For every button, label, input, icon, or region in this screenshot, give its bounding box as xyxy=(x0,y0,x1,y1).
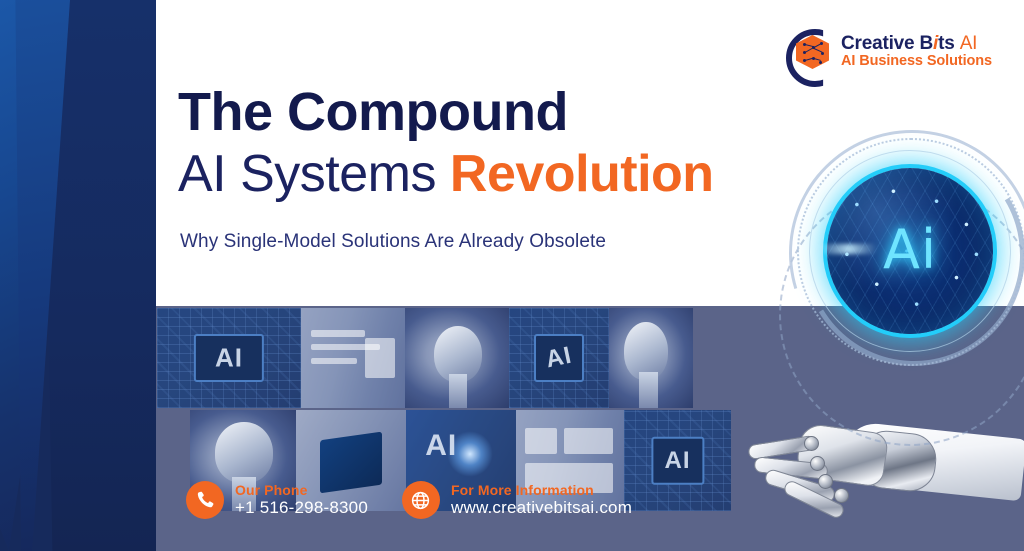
ui-bar xyxy=(311,358,357,364)
ui-bar xyxy=(311,330,365,337)
collage-tile-thinking-robot xyxy=(609,308,693,408)
logo-name-ai: AI xyxy=(960,33,978,54)
headline-block: The Compound AI Systems Revolution xyxy=(178,84,798,203)
left-navy-panel xyxy=(0,0,156,551)
collage-tile-circuit-board-ai-chip: AI xyxy=(157,308,301,408)
robot-neck xyxy=(639,372,657,408)
collage-tile-ai-microchip: AI xyxy=(509,308,609,408)
contact-website-label: For More Information xyxy=(451,482,632,498)
chart-panel xyxy=(564,428,614,454)
collage-tile-robot-head-profile xyxy=(405,308,509,408)
contact-phone-value: +1 516-298-8300 xyxy=(235,498,368,518)
contact-phone-label: Our Phone xyxy=(235,482,368,498)
chart-panel xyxy=(525,428,557,454)
globe-icon xyxy=(402,481,440,519)
brand-logo[interactable]: Creative Bits AI AI Business Solutions xyxy=(786,26,1001,78)
contact-website[interactable]: For More Information www.creativebitsai.… xyxy=(402,481,632,519)
logo-text-block: Creative Bits AI AI Business Solutions xyxy=(841,34,992,70)
robot-knuckle xyxy=(810,456,825,471)
logo-name-part2: ts xyxy=(938,33,955,54)
ui-panel xyxy=(365,338,394,378)
ai-orb: Ai xyxy=(827,168,993,334)
contact-website-text: For More Information www.creativebitsai.… xyxy=(451,482,632,518)
image-collage-row-1: AI AI xyxy=(157,308,693,408)
contact-phone[interactable]: Our Phone +1 516-298-8300 xyxy=(186,481,368,519)
robot-dome xyxy=(215,422,272,483)
robot-neck xyxy=(449,374,468,408)
subheadline: Why Single-Model Solutions Are Already O… xyxy=(180,231,606,253)
headline-line-1: The Compound xyxy=(178,84,798,141)
tile-glyph: AI xyxy=(543,342,574,375)
robot-knuckle xyxy=(818,474,833,489)
headline-line-2: AI Systems Revolution xyxy=(178,145,798,203)
robot-knuckle xyxy=(804,436,819,451)
contact-website-value: www.creativebitsai.com xyxy=(451,498,632,518)
tile-glyph: AI xyxy=(425,429,457,463)
tile-glyph: AI xyxy=(215,343,243,374)
logo-company-name: Creative Bits AI xyxy=(841,34,992,55)
tile-glyph: AI xyxy=(665,447,691,475)
ai-sphere-icon: Ai xyxy=(793,132,1024,390)
hexagon-network-icon xyxy=(786,29,832,75)
logo-name-part1: Creative B xyxy=(841,33,933,54)
contact-phone-text: Our Phone +1 516-298-8300 xyxy=(235,482,368,518)
orb-light-beam xyxy=(815,244,877,254)
contact-bar: Our Phone +1 516-298-8300 For More Infor… xyxy=(186,481,632,519)
headline-accent-text: Revolution xyxy=(450,145,714,203)
phone-icon xyxy=(186,481,224,519)
headline-light-text: AI Systems xyxy=(178,145,450,203)
collage-tile-dashboard-robot xyxy=(301,308,405,408)
poster-canvas: AI AI AI xyxy=(0,0,1024,551)
orb-ai-label: Ai xyxy=(883,218,937,281)
collage-tile-circuit-ai-processor: AI xyxy=(624,410,731,511)
robot-knuckle xyxy=(834,488,849,503)
logo-tagline: AI Business Solutions xyxy=(841,54,992,70)
